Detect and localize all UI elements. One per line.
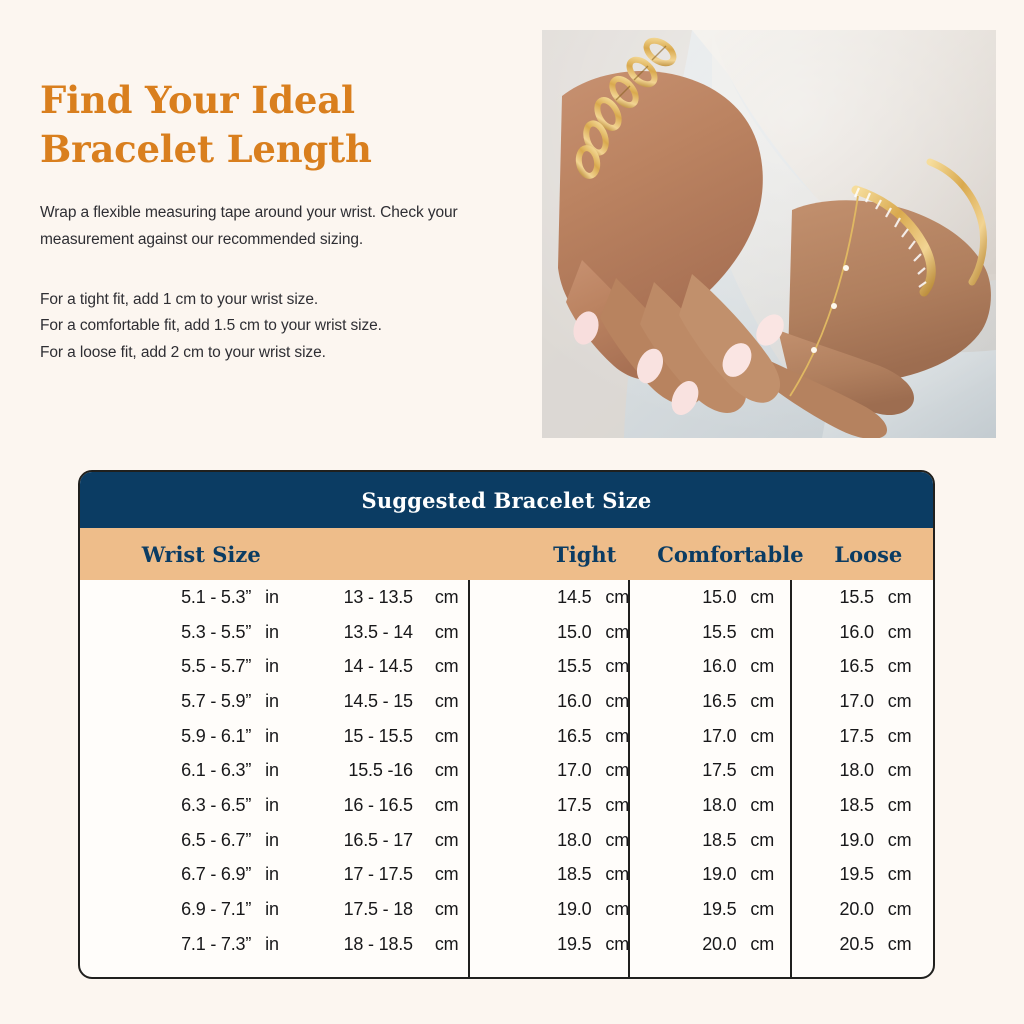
cell-wrist-cm: 15 - 15.5: [323, 726, 413, 747]
cell-wrist-inches: 6.9 - 7.1”: [80, 899, 251, 920]
cell-loose: 17.5cm: [804, 726, 933, 747]
table-row: 6.3 - 6.5”in16 - 16.5cm17.5cm18.0cm18.5c…: [80, 788, 933, 823]
table-row: 5.1 - 5.3”in13 - 13.5cm14.5cm15.0cm15.5c…: [80, 580, 933, 615]
cell-unit-inches: in: [251, 899, 323, 920]
cell-tight: 17.5cm: [514, 795, 658, 816]
page-title: Find Your Ideal Bracelet Length: [40, 76, 510, 174]
cell-tight: 16.0cm: [514, 691, 658, 712]
cell-tight: 19.5cm: [514, 934, 658, 955]
cell-unit-inches: in: [251, 587, 323, 608]
intro-body-text: Wrap a flexible measuring tape around yo…: [40, 200, 510, 253]
cell-unit-cm: cm: [413, 830, 514, 851]
cell-comfortable: 16.5cm: [658, 691, 804, 712]
cell-wrist-cm: 18 - 18.5: [323, 934, 413, 955]
cell-loose: 15.5cm: [804, 587, 933, 608]
cell-wrist-inches: 5.3 - 5.5”: [80, 622, 251, 643]
cell-wrist-inches: 6.7 - 6.9”: [80, 864, 251, 885]
cell-tight: 15.5cm: [514, 656, 658, 677]
table-row: 7.1 - 7.3”in18 - 18.5cm19.5cm20.0cm20.5c…: [80, 927, 933, 962]
cell-unit-inches: in: [251, 726, 323, 747]
cell-unit-cm: cm: [413, 864, 514, 885]
cell-unit-inches: in: [251, 656, 323, 677]
cell-loose: 20.0cm: [804, 899, 933, 920]
cell-comfortable: 17.0cm: [658, 726, 804, 747]
cell-tight: 18.0cm: [514, 830, 658, 851]
cell-unit-cm: cm: [413, 691, 514, 712]
cell-unit-cm: cm: [413, 934, 514, 955]
cell-loose: 16.5cm: [804, 656, 933, 677]
table-row: 6.5 - 6.7”in16.5 - 17cm18.0cm18.5cm19.0c…: [80, 823, 933, 858]
cell-wrist-cm: 14.5 - 15: [323, 691, 413, 712]
cell-tight: 17.0cm: [514, 760, 658, 781]
cell-comfortable: 17.5cm: [658, 760, 804, 781]
cell-unit-inches: in: [251, 830, 323, 851]
table-body: 5.1 - 5.3”in13 - 13.5cm14.5cm15.0cm15.5c…: [80, 580, 933, 977]
cell-loose: 19.5cm: [804, 864, 933, 885]
cell-comfortable: 19.0cm: [658, 864, 804, 885]
table-row: 5.7 - 5.9”in14.5 - 15cm16.0cm16.5cm17.0c…: [80, 684, 933, 719]
cell-tight: 16.5cm: [514, 726, 658, 747]
table-row: 6.1 - 6.3”in15.5 -16cm17.0cm17.5cm18.0cm: [80, 753, 933, 788]
cell-wrist-inches: 5.1 - 5.3”: [80, 587, 251, 608]
cell-unit-inches: in: [251, 622, 323, 643]
cell-loose: 18.0cm: [804, 760, 933, 781]
column-divider-2: [628, 580, 630, 977]
page-title-line-2: Bracelet Length: [40, 125, 510, 174]
cell-unit-inches: in: [251, 864, 323, 885]
hands-bracelet-photo: [542, 30, 996, 438]
cell-unit-cm: cm: [413, 795, 514, 816]
cell-comfortable: 15.5cm: [658, 622, 804, 643]
cell-wrist-inches: 6.1 - 6.3”: [80, 760, 251, 781]
cell-comfortable: 18.5cm: [658, 830, 804, 851]
intro-panel: Find Your Ideal Bracelet Length Wrap a f…: [40, 76, 510, 367]
fit-guidelines: For a tight fit, add 1 cm to your wrist …: [40, 287, 510, 367]
cell-unit-inches: in: [251, 760, 323, 781]
cell-comfortable: 19.5cm: [658, 899, 804, 920]
cell-loose: 19.0cm: [804, 830, 933, 851]
cell-unit-inches: in: [251, 934, 323, 955]
cell-comfortable: 18.0cm: [658, 795, 804, 816]
cell-wrist-cm: 16.5 - 17: [323, 830, 413, 851]
fit-guideline-loose: For a loose fit, add 2 cm to your wrist …: [40, 340, 510, 367]
cell-unit-cm: cm: [413, 656, 514, 677]
cell-wrist-cm: 15.5 -16: [323, 760, 413, 781]
cell-wrist-cm: 17 - 17.5: [323, 864, 413, 885]
column-header-tight: Tight: [512, 542, 657, 567]
cell-unit-inches: in: [251, 795, 323, 816]
cell-comfortable: 16.0cm: [658, 656, 804, 677]
cell-wrist-inches: 5.7 - 5.9”: [80, 691, 251, 712]
table-row: 5.9 - 6.1”in15 - 15.5cm16.5cm17.0cm17.5c…: [80, 719, 933, 754]
cell-tight: 15.0cm: [514, 622, 658, 643]
table-title-text: Suggested Bracelet Size: [362, 488, 652, 513]
cell-tight: 19.0cm: [514, 899, 658, 920]
cell-wrist-cm: 16 - 16.5: [323, 795, 413, 816]
cell-unit-cm: cm: [413, 726, 514, 747]
cell-wrist-inches: 5.9 - 6.1”: [80, 726, 251, 747]
column-header-loose: Loose: [804, 542, 933, 567]
size-chart-table: Suggested Bracelet Size Wrist Size Tight…: [78, 470, 935, 979]
cell-loose: 18.5cm: [804, 795, 933, 816]
cell-unit-inches: in: [251, 691, 323, 712]
page-title-line-1: Find Your Ideal: [40, 76, 510, 125]
cell-wrist-cm: 14 - 14.5: [323, 656, 413, 677]
fit-guideline-tight: For a tight fit, add 1 cm to your wrist …: [40, 287, 510, 314]
table-row: 5.5 - 5.7”in14 - 14.5cm15.5cm16.0cm16.5c…: [80, 649, 933, 684]
cell-loose: 16.0cm: [804, 622, 933, 643]
cell-wrist-inches: 6.3 - 6.5”: [80, 795, 251, 816]
cell-unit-cm: cm: [413, 622, 514, 643]
cell-wrist-cm: 17.5 - 18: [323, 899, 413, 920]
column-header-comfortable: Comfortable: [657, 542, 804, 567]
table-column-headers: Wrist Size Tight Comfortable Loose: [80, 528, 933, 580]
cell-wrist-cm: 13.5 - 14: [323, 622, 413, 643]
table-title-bar: Suggested Bracelet Size: [80, 472, 933, 528]
cell-loose: 17.0cm: [804, 691, 933, 712]
column-divider-1: [468, 580, 470, 977]
cell-wrist-cm: 13 - 13.5: [323, 587, 413, 608]
cell-wrist-inches: 7.1 - 7.3”: [80, 934, 251, 955]
cell-comfortable: 15.0cm: [658, 587, 804, 608]
fit-guideline-comfortable: For a comfortable fit, add 1.5 cm to you…: [40, 313, 510, 340]
cell-loose: 20.5cm: [804, 934, 933, 955]
cell-wrist-inches: 6.5 - 6.7”: [80, 830, 251, 851]
cell-unit-cm: cm: [413, 760, 514, 781]
cell-tight: 18.5cm: [514, 864, 658, 885]
cell-wrist-inches: 5.5 - 5.7”: [80, 656, 251, 677]
column-divider-3: [790, 580, 792, 977]
table-row: 6.7 - 6.9”in17 - 17.5cm18.5cm19.0cm19.5c…: [80, 858, 933, 893]
cell-tight: 14.5cm: [514, 587, 658, 608]
cell-comfortable: 20.0cm: [658, 934, 804, 955]
column-header-wrist-size: Wrist Size: [80, 542, 322, 567]
table-row: 5.3 - 5.5”in13.5 - 14cm15.0cm15.5cm16.0c…: [80, 615, 933, 650]
table-row: 6.9 - 7.1”in17.5 - 18cm19.0cm19.5cm20.0c…: [80, 892, 933, 927]
cell-unit-cm: cm: [413, 587, 514, 608]
cell-unit-cm: cm: [413, 899, 514, 920]
